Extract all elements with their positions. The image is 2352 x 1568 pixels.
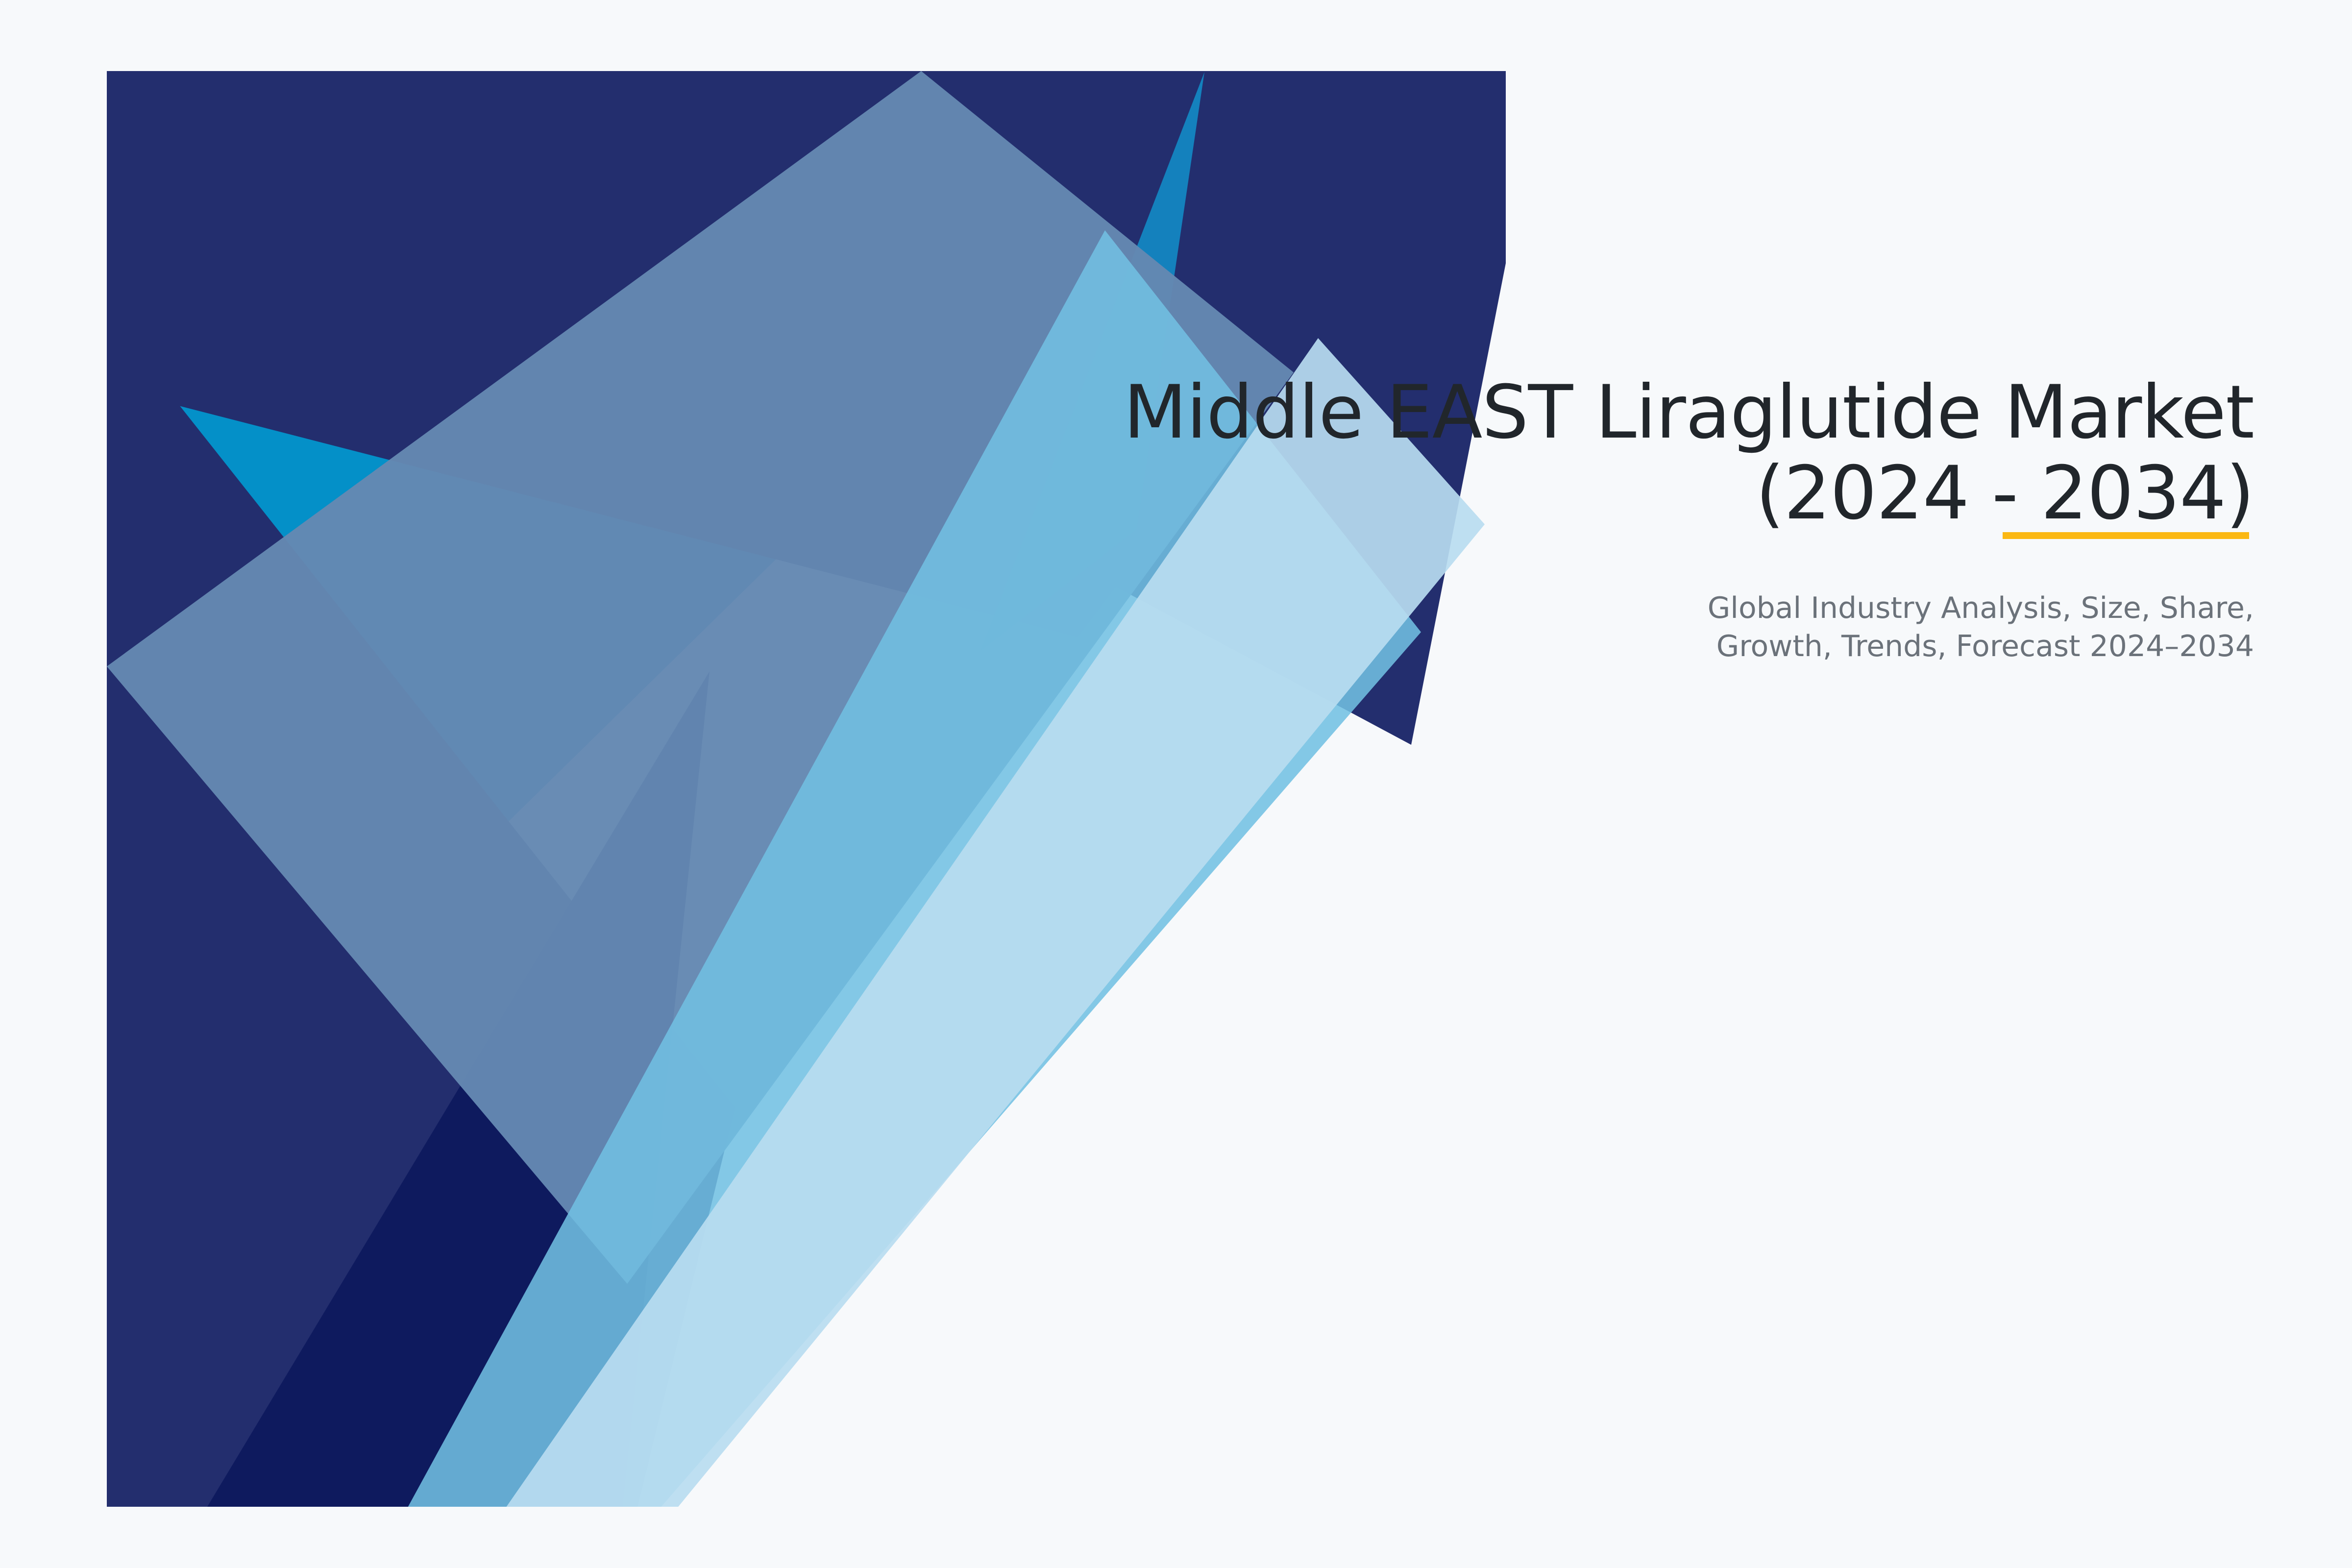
abstract-geometric-banner: [0, 0, 2352, 1568]
title-line-2: (2024 - 2034): [1756, 451, 2254, 536]
title-line-1: Middle EAST Liraglutide Market: [1124, 370, 2254, 455]
subtitle-line-2: Growth, Trends, Forecast 2024–2034: [1716, 629, 2254, 663]
page-title: Middle EAST Liraglutide Market(2024 - 20…: [1029, 372, 2254, 534]
title-accent-underline: [2003, 532, 2249, 539]
subtitle-line-1: Global Industry Analysis, Size, Share,: [1708, 591, 2254, 625]
cover-text-block: Middle EAST Liraglutide Market(2024 - 20…: [1029, 372, 2254, 665]
report-cover-page: Middle EAST Liraglutide Market(2024 - 20…: [0, 0, 2352, 1568]
page-subtitle: Global Industry Analysis, Size, Share,Gr…: [1029, 534, 2254, 665]
